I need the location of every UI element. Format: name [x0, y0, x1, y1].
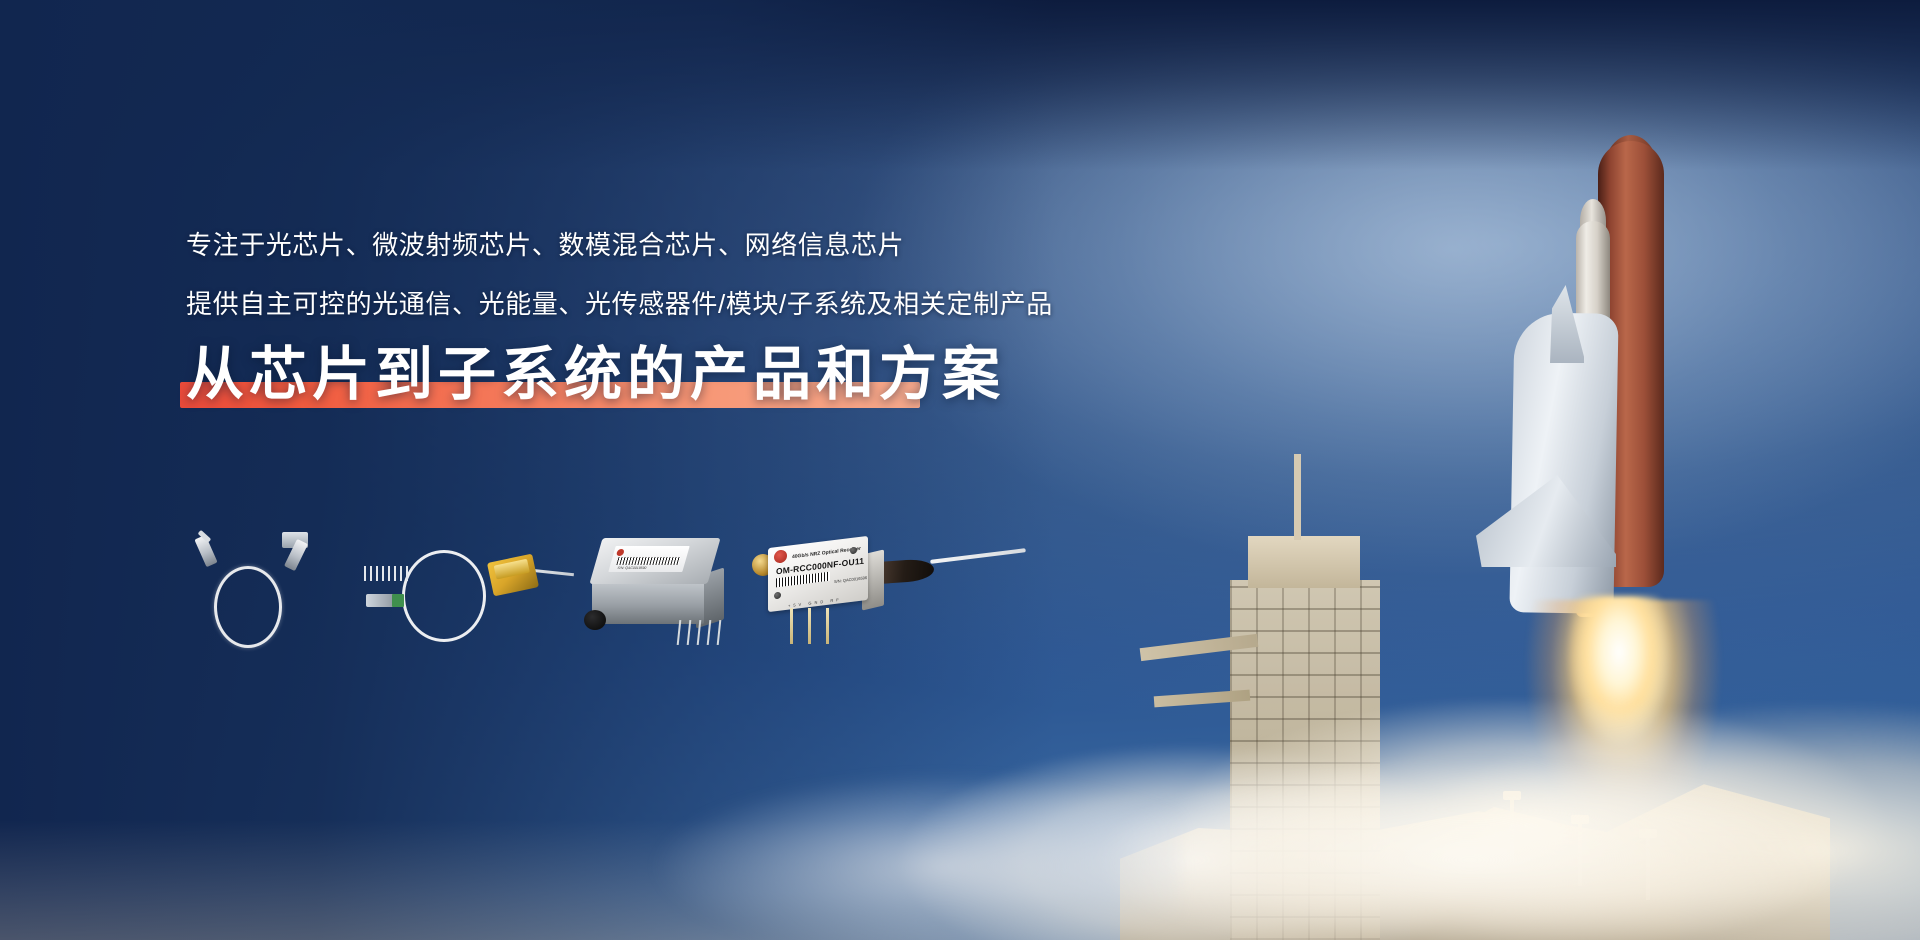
- brand-logo-icon: [616, 549, 625, 556]
- barcode-icon: [616, 557, 680, 565]
- banner-subtitle-2: 提供自主可控的光通信、光能量、光传感器件/模块/子系统及相关定制产品: [186, 287, 1286, 322]
- banner-headline: 从芯片到子系统的产品和方案: [186, 344, 1005, 407]
- tower-cap: [1248, 536, 1360, 588]
- butterfly-pins: [364, 566, 412, 582]
- fiber-ferrule-tip: [198, 530, 212, 543]
- product-butterfly-laser: [362, 536, 562, 646]
- banner-copy: 专注于光芯片、微波射频芯片、数模混合芯片、网络信息芯片 提供自主可控的光通信、光…: [186, 228, 1286, 406]
- fiber-connector-boot: [392, 594, 404, 607]
- butterfly-lid: [494, 559, 530, 580]
- module-pins: [678, 620, 736, 646]
- optical-fiber-pigtail: [930, 548, 1026, 564]
- rf-sma-connector-bottom: [748, 578, 766, 596]
- fiber-coil: [402, 550, 486, 642]
- butterfly-package: [487, 554, 539, 597]
- product-showcase-strip: S/N: QAC0019590 40Gb/s NRZ Optical Recei…: [186, 528, 1026, 648]
- fiber-strain-relief-boot: [879, 558, 934, 584]
- fiber-connector-left: [194, 535, 217, 567]
- module-front-panel: [592, 578, 704, 624]
- space-shuttle-stack: [1490, 135, 1750, 655]
- lightning-mast: [1294, 454, 1301, 540]
- fiber-coil: [214, 566, 282, 648]
- hero-banner: 专注于光芯片、微波射频芯片、数模混合芯片、网络信息芯片 提供自主可控的光通信、光…: [0, 0, 1920, 940]
- ground-glow: [0, 820, 1920, 940]
- product-optical-receiver: 40Gb/s NRZ Optical Receiver OM-RCC000NF-…: [746, 530, 1026, 650]
- sma-connector: [584, 610, 606, 630]
- banner-headline-wrap: 从芯片到子系统的产品和方案: [186, 344, 1005, 407]
- product-rf-module: S/N: QAC0019590: [586, 528, 736, 646]
- product-fiber-patch-cord: [186, 532, 326, 644]
- banner-subtitle-1: 专注于光芯片、微波射频芯片、数模混合芯片、网络信息芯片: [186, 228, 1286, 263]
- module-label: S/N: QAC0019590: [608, 546, 689, 572]
- receiver-pins: [790, 608, 850, 646]
- module-serial: S/N: QAC0019590: [617, 566, 647, 570]
